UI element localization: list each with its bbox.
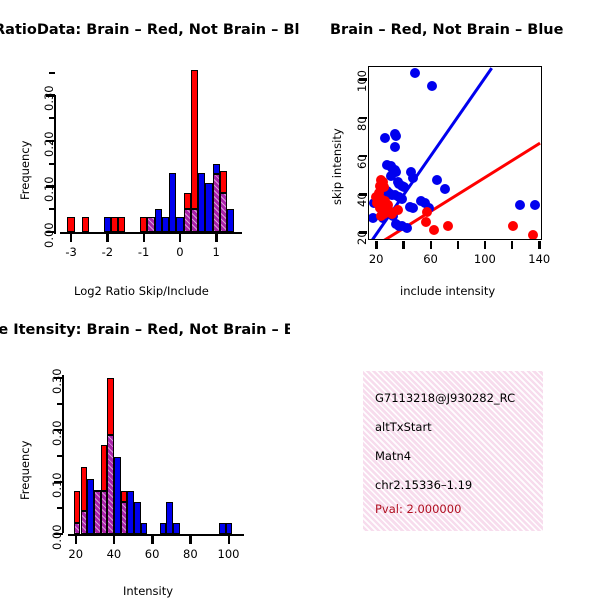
histogram-bar-overlap <box>213 174 220 232</box>
x-axis-line <box>60 232 242 234</box>
histogram-bar-overlap <box>101 491 108 534</box>
scatter-point <box>390 142 400 152</box>
x-tick <box>113 536 115 544</box>
gene-info-locus: chr2.15336–1.19 <box>375 478 472 492</box>
x-tick <box>179 234 181 242</box>
histogram-bar-overlap <box>81 511 88 534</box>
ratio-histogram-title-clip: RatioData: Brain – Red, Not Brain – Blu <box>0 22 300 44</box>
spline-histogram-title-clip: ne Itensity: Brain – Red, Not Brain – B <box>0 322 290 344</box>
histogram-bar <box>191 70 198 209</box>
ratio-histogram-xlabel: Log2 Ratio Skip/Include <box>74 284 209 298</box>
histogram-bar <box>226 523 233 534</box>
scatter-point <box>443 221 453 231</box>
scatter-point <box>429 225 439 235</box>
x-axis-line <box>68 534 244 536</box>
histogram-bar <box>213 164 220 174</box>
histogram-bar-overlap <box>94 491 101 534</box>
scatter-point <box>397 194 407 204</box>
histogram-bar <box>111 217 118 232</box>
histogram-bar-overlap <box>74 523 81 534</box>
histogram-bar <box>141 523 148 534</box>
histogram-bar <box>184 193 191 209</box>
histogram-bar-overlap <box>220 193 227 232</box>
histogram-bar <box>87 479 94 534</box>
y-axis-line <box>62 375 64 533</box>
histogram-bar <box>198 173 205 232</box>
x-tick-label: 100 <box>461 252 509 266</box>
x-tick <box>375 241 377 249</box>
x-tick <box>70 234 72 242</box>
scatter-point <box>508 221 518 231</box>
scatter-point <box>380 133 390 143</box>
scatter-point <box>391 131 401 141</box>
histogram-bar <box>114 457 121 534</box>
scatter-point <box>393 205 403 215</box>
x-tick-label: 60 <box>407 252 455 266</box>
ratio-histogram-title: RatioData: Brain – Red, Not Brain – Blu <box>0 22 300 38</box>
x-tick <box>151 536 153 544</box>
scatter-point <box>528 230 538 240</box>
histogram-bar-overlap <box>107 435 114 534</box>
histogram-bar <box>155 209 162 232</box>
histogram-bar <box>173 523 180 534</box>
x-tick <box>143 234 145 242</box>
scatter-point <box>427 81 437 91</box>
ratio-histogram-ylabel: Frequency <box>18 141 32 200</box>
histogram-bar <box>176 217 183 232</box>
gene-info-gene-symbol: Matn4 <box>375 449 411 463</box>
histogram-bar <box>162 217 169 232</box>
x-tick-label: 20 <box>352 252 400 266</box>
y-tick-label: 100 <box>355 70 369 92</box>
histogram-bar <box>127 491 134 534</box>
histogram-bar-overlap <box>147 217 154 232</box>
histogram-bar <box>219 523 226 534</box>
x-tick <box>511 241 513 249</box>
scatter-point <box>530 200 540 210</box>
histogram-bar <box>101 445 108 490</box>
histogram-bar <box>81 467 88 511</box>
y-tick-label: 60 <box>355 154 369 169</box>
x-tick <box>457 241 459 249</box>
scatter-point <box>410 68 420 78</box>
gene-info-pvalue: Pval: 2.000000 <box>375 502 461 516</box>
x-tick <box>402 241 404 249</box>
histogram-bar <box>107 378 114 435</box>
histogram-bar <box>67 217 74 232</box>
x-tick <box>484 241 486 249</box>
histogram-bar <box>140 217 147 232</box>
histogram-bar <box>118 217 125 232</box>
gene-info-box: G7113218@J930282_RC altTxStart Matn4 chr… <box>363 371 543 531</box>
scatter-point <box>422 207 432 217</box>
scatter-point <box>402 223 412 233</box>
scatter-point <box>408 173 418 183</box>
gene-info-event-type: altTxStart <box>375 420 432 434</box>
histogram-bar-overlap <box>121 502 128 534</box>
y-tick-label: 20 <box>355 231 369 246</box>
x-tick <box>75 536 77 544</box>
x-tick-label: 100 <box>205 547 253 561</box>
histogram-bar <box>104 217 111 232</box>
histogram-bar <box>74 491 81 522</box>
y-axis-line <box>54 95 56 234</box>
x-tick <box>215 234 217 242</box>
histogram-bar <box>134 502 141 534</box>
y-tick-label: 40 <box>355 192 369 207</box>
scatter-point <box>515 200 525 210</box>
scatter-frame <box>368 66 542 240</box>
histogram-bar <box>220 171 227 194</box>
x-tick <box>538 241 540 249</box>
histogram-bar-overlap <box>191 209 198 232</box>
histogram-bar <box>205 183 212 232</box>
x-tick-label: 1 <box>192 245 240 259</box>
histogram-bar <box>169 173 176 232</box>
x-tick-label: 140 <box>515 252 563 266</box>
histogram-bar <box>166 502 173 534</box>
gene-info-clip: G7113218@J930282_RC altTxStart Matn4 chr… <box>363 371 600 531</box>
scatter-xlabel: include intensity <box>400 284 495 298</box>
histogram-bar-overlap <box>184 209 191 232</box>
spline-histogram-ylabel: Frequency <box>18 441 32 500</box>
histogram-bar <box>121 491 128 501</box>
spline-histogram-xlabel: Intensity <box>123 584 173 598</box>
y-tick-label: 80 <box>355 116 369 131</box>
histogram-bar <box>82 217 89 232</box>
x-tick <box>106 234 108 242</box>
scatter-ylabel: skip intensity <box>330 128 344 205</box>
x-tick <box>228 536 230 544</box>
scatter-point <box>408 203 418 213</box>
scatter-title: Brain – Red, Not Brain – Blue <box>330 22 563 38</box>
x-tick <box>189 536 191 544</box>
histogram-bar <box>227 209 234 232</box>
scatter-point <box>432 175 442 185</box>
gene-info-probe-id: G7113218@J930282_RC <box>375 391 515 405</box>
scatter-point <box>440 184 450 194</box>
histogram-bar <box>160 523 167 534</box>
y-tick-minor <box>49 72 55 74</box>
spline-histogram-title: ne Itensity: Brain – Red, Not Brain – B <box>0 322 290 338</box>
x-tick <box>430 241 432 249</box>
scatter-title-clip: Brain – Red, Not Brain – Blue <box>300 22 600 44</box>
